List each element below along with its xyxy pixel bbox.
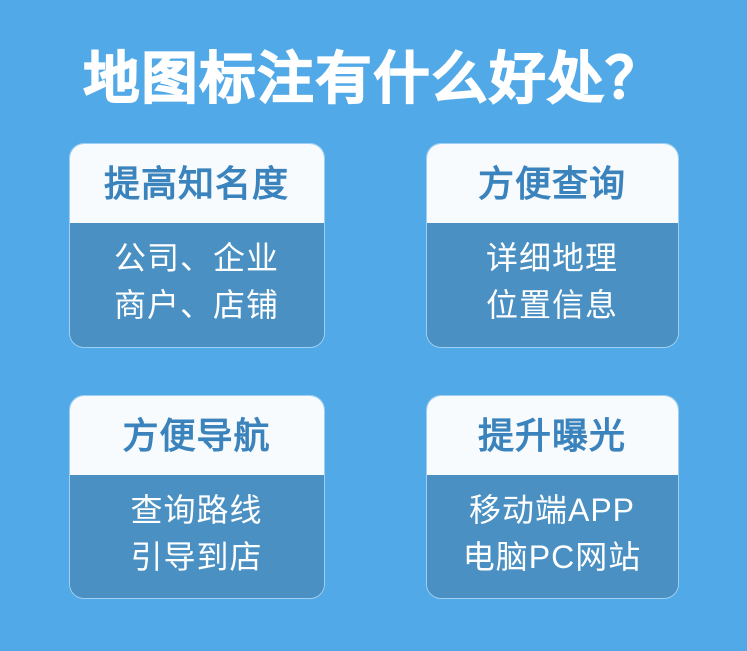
benefit-card-body: 移动端APP 电脑PC网站 xyxy=(427,475,678,598)
benefit-card-header: 方便导航 xyxy=(70,396,324,475)
benefit-card-body-line: 公司、企业 xyxy=(114,235,279,282)
benefit-card-body-line: 移动端APP xyxy=(469,487,635,534)
benefit-card-body: 详细地理 位置信息 xyxy=(427,223,678,347)
benefit-card-grid: 提高知名度 公司、企业 商户、店铺 方便查询 详细地理 位置信息 方便导航 查询… xyxy=(70,144,678,598)
benefit-card-brand-awareness[interactable]: 提高知名度 公司、企业 商户、店铺 xyxy=(70,144,324,347)
benefit-card-body-line: 详细地理 xyxy=(486,235,618,282)
benefit-card-header: 提高知名度 xyxy=(70,144,324,223)
benefit-card-easy-search[interactable]: 方便查询 详细地理 位置信息 xyxy=(427,144,678,347)
poster-container: 地图标注有什么好处？ 提高知名度 公司、企业 商户、店铺 方便查询 详细地理 位… xyxy=(0,0,747,651)
benefit-card-body-line: 位置信息 xyxy=(486,282,618,329)
benefit-card-body: 查询路线 引导到店 xyxy=(70,475,324,598)
page-title: 地图标注有什么好处？ xyxy=(84,48,664,110)
benefit-card-header: 提升曝光 xyxy=(427,396,678,475)
benefit-card-body-line: 电脑PC网站 xyxy=(463,534,641,581)
benefit-card-body-line: 商户、店铺 xyxy=(114,282,279,329)
benefit-card-body: 公司、企业 商户、店铺 xyxy=(70,223,324,347)
benefit-card-easy-navigation[interactable]: 方便导航 查询路线 引导到店 xyxy=(70,396,324,598)
benefit-card-body-line: 引导到店 xyxy=(130,534,262,581)
benefit-card-header: 方便查询 xyxy=(427,144,678,223)
benefit-card-body-line: 查询路线 xyxy=(130,487,262,534)
benefit-card-more-exposure[interactable]: 提升曝光 移动端APP 电脑PC网站 xyxy=(427,396,678,598)
